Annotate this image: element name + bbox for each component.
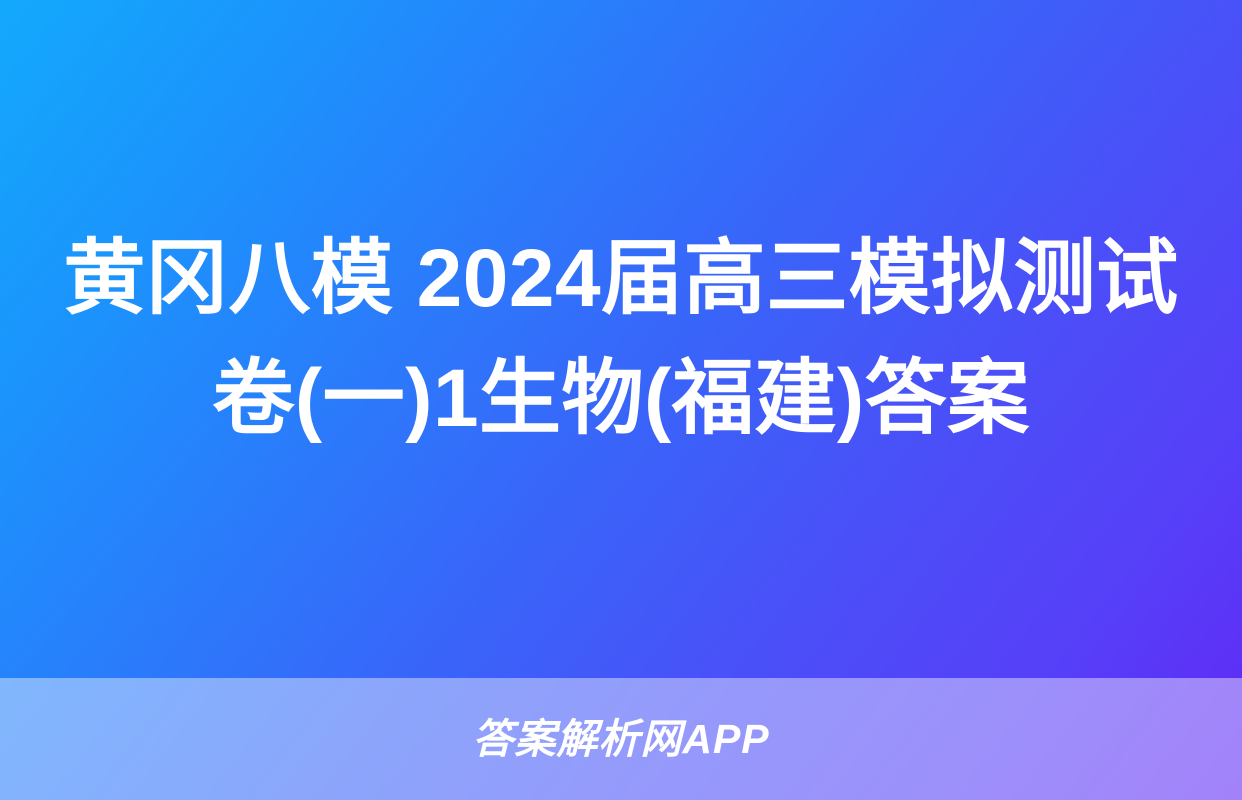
page-title: 黄冈八模 2024届高三模拟测试卷(一)1生物(福建)答案 (61, 219, 1181, 458)
watermark-band: 答案解析网APP (0, 678, 1242, 800)
app-watermark-label: 答案解析网APP (472, 719, 769, 760)
poster-canvas: 黄冈八模 2024届高三模拟测试卷(一)1生物(福建)答案 答案解析网APP (0, 0, 1242, 800)
title-container: 黄冈八模 2024届高三模拟测试卷(一)1生物(福建)答案 (0, 0, 1242, 678)
